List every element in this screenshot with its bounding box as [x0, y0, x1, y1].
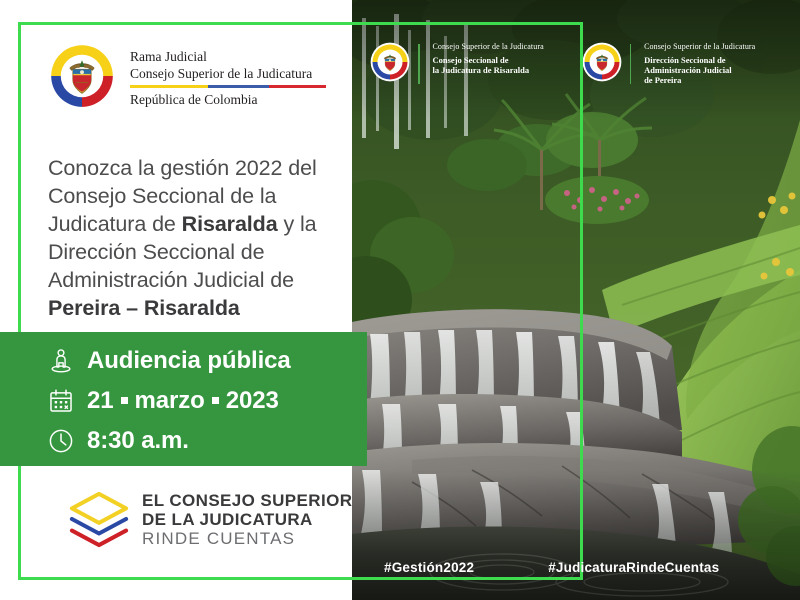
- rinde-cuentas-logo: EL CONSEJO SUPERIOR DE LA JUDICATURA RIN…: [68, 490, 352, 548]
- event-type-label: Audiencia pública: [87, 349, 291, 373]
- logo-bottom-line-1: Dirección Seccional de: [644, 55, 755, 65]
- calendar-icon: [48, 388, 74, 414]
- logo-divider: [418, 44, 420, 84]
- event-month: marzo: [135, 387, 205, 414]
- headline-bold-pereira: Pereira – Risaralda: [48, 296, 240, 320]
- event-time-row: 8:30 a.m.: [48, 428, 189, 454]
- rama-line-1: Rama Judicial: [130, 48, 326, 65]
- event-time-label: 8:30 a.m.: [87, 429, 189, 453]
- rama-judicial-header: Rama Judicial Consejo Superior de la Jud…: [48, 42, 326, 110]
- rinde-cuentas-text: EL CONSEJO SUPERIOR DE LA JUDICATURA RIN…: [142, 492, 352, 547]
- logo-bottom-line-2: la Judicatura de Risaralda: [433, 65, 544, 75]
- logo-bottom-line-1: Consejo Seccional de: [433, 55, 544, 65]
- event-day: 21: [87, 387, 114, 414]
- event-details-box: Audiencia pública 21: [0, 332, 367, 466]
- logo-top-line: Consejo Superior de la Judicatura: [644, 42, 755, 52]
- rc-line-1: EL CONSEJO SUPERIOR: [142, 492, 352, 509]
- rc-line-2: DE LA JUDICATURA: [142, 511, 352, 528]
- date-separator-1: [121, 397, 128, 404]
- headline-bold-risaralda: Risaralda: [182, 212, 278, 236]
- logo-divider: [630, 44, 632, 84]
- tricolor-red: [269, 85, 326, 88]
- rama-line-2: Consejo Superior de la Judicatura: [130, 65, 326, 82]
- hashtag-row: #Gestión2022 #JudicaturaRindeCuentas: [352, 560, 800, 575]
- event-year: 2023: [226, 387, 279, 414]
- event-type-row: Audiencia pública: [48, 348, 291, 374]
- logo-direccion-seccional-pereira: Consejo Superior de la Judicatura Direcc…: [572, 0, 800, 120]
- logo-bottom-line-3: de Pereira: [644, 75, 755, 85]
- event-date-row: 21marzo2023: [48, 388, 279, 414]
- colombia-coat-of-arms-icon: [582, 42, 622, 82]
- colombia-coat-of-arms-icon: [48, 42, 116, 110]
- photo-logo-strip: Consejo Superior de la Judicatura Consej…: [352, 0, 800, 120]
- logo-top-line: Consejo Superior de la Judicatura: [433, 42, 544, 52]
- headline-text: Conozca la gestión 2022 del Consejo Secc…: [48, 155, 328, 323]
- speaker-person-icon: [48, 348, 74, 374]
- hashtag-gestion: #Gestión2022: [384, 560, 474, 575]
- rc-line-3: RINDE CUENTAS: [142, 530, 352, 547]
- rama-judicial-text: Rama Judicial Consejo Superior de la Jud…: [130, 42, 326, 108]
- colombia-coat-of-arms-icon: [370, 42, 410, 82]
- tricolor-divider: [130, 85, 326, 88]
- tricolor-blue: [208, 85, 269, 88]
- event-date-label: 21marzo2023: [87, 389, 279, 413]
- logo-bottom-line-2: Administración Judicial: [644, 65, 755, 75]
- hashtag-rinde-cuentas: #JudicaturaRindeCuentas: [548, 560, 719, 575]
- stacked-chevrons-tricolor-icon: [68, 490, 130, 548]
- date-separator-2: [212, 397, 219, 404]
- logo-consejo-seccional-risaralda: Consejo Superior de la Judicatura Consej…: [352, 0, 572, 120]
- tricolor-yellow: [130, 85, 208, 88]
- clock-icon: [48, 428, 74, 454]
- rama-line-3: República de Colombia: [130, 92, 326, 108]
- poster-canvas: Consejo Superior de la Judicatura Consej…: [0, 0, 800, 600]
